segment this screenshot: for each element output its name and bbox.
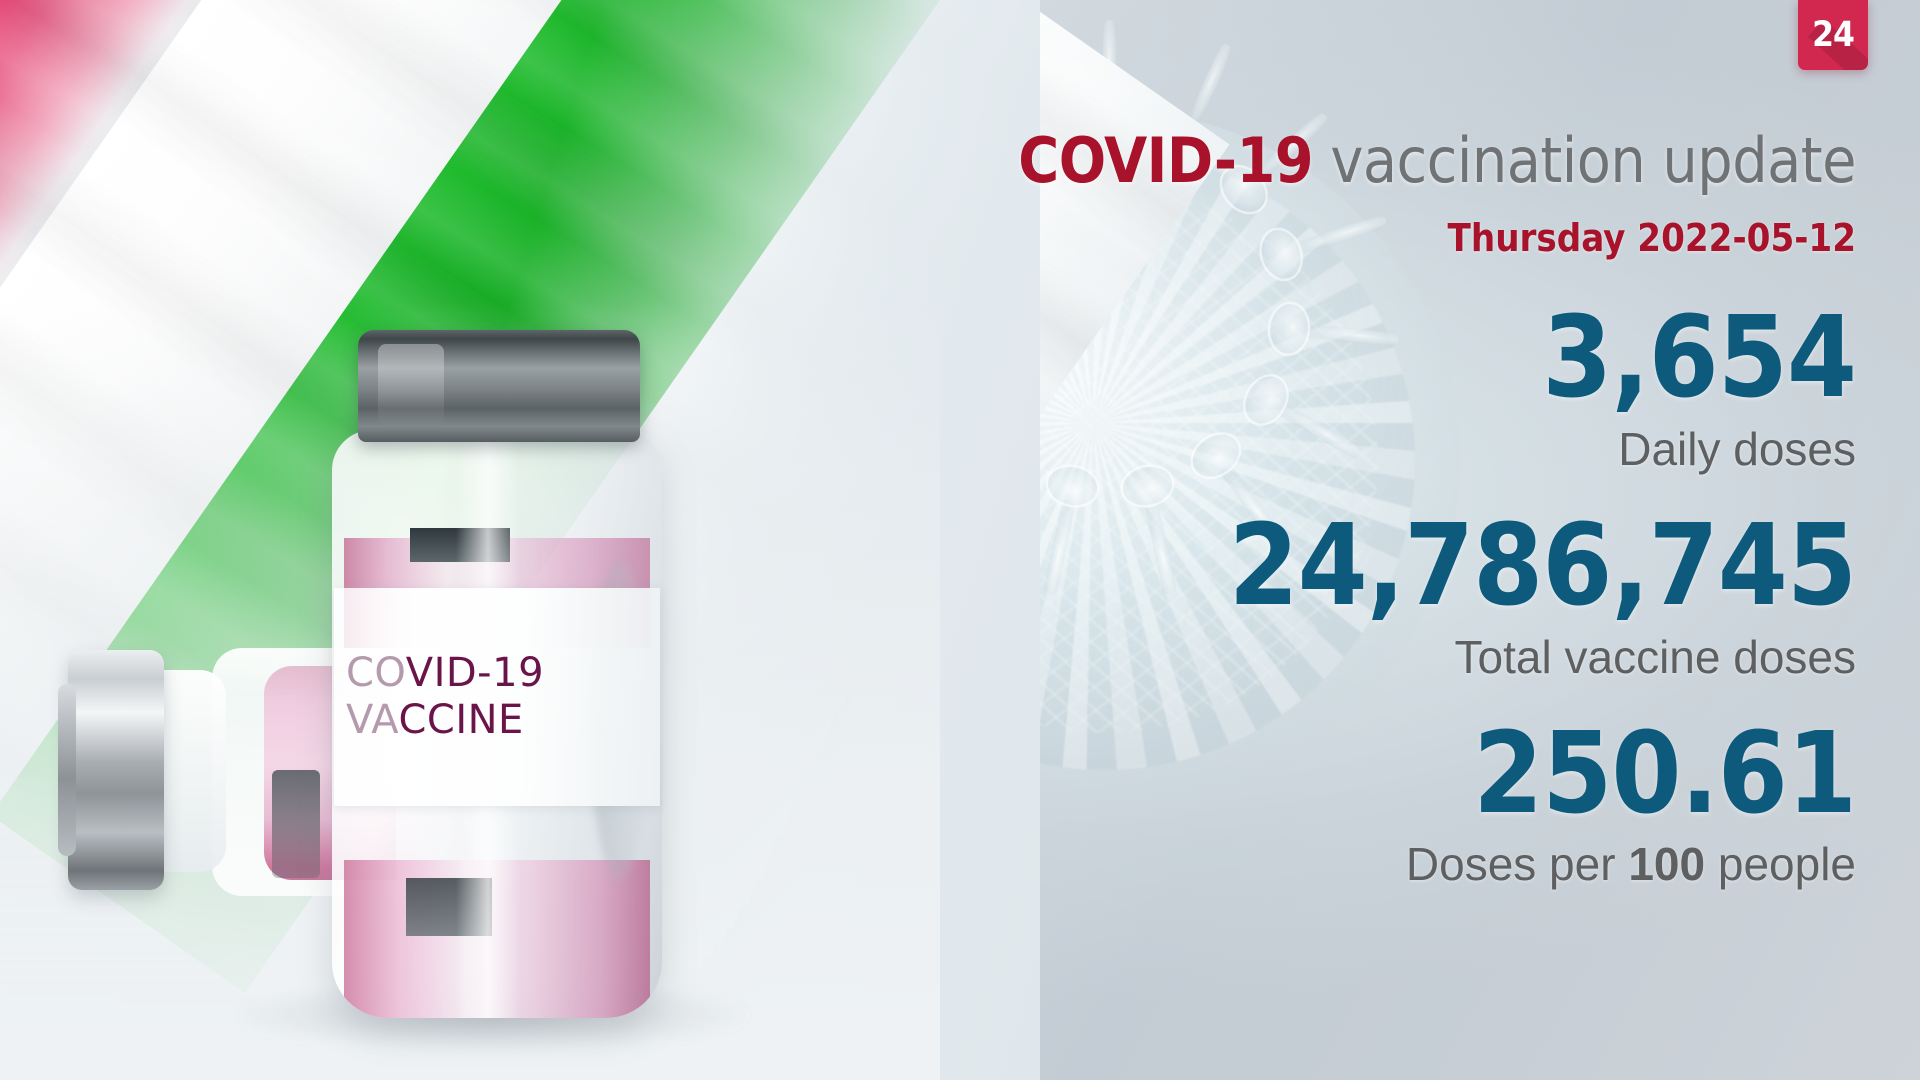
stat-daily-doses-caption: Daily doses bbox=[796, 422, 1856, 476]
vial-liquid-lower bbox=[344, 860, 650, 1018]
vial-label-line-1: COVID-19 bbox=[346, 650, 660, 697]
stat-doses-per-100-caption-pre: Doses per bbox=[1406, 838, 1628, 890]
flag-band-white bbox=[0, 0, 720, 820]
vial-label-line-2-strong: CCINE bbox=[398, 697, 523, 743]
vial-glass-edge-shade bbox=[590, 560, 650, 880]
stat-doses-per-100-caption-post: people bbox=[1705, 838, 1856, 890]
vial-label-line-2: VACCINE bbox=[346, 697, 660, 744]
vial-metal-cap bbox=[358, 330, 640, 442]
stat-total-doses-caption-text: Total vaccine doses bbox=[1455, 631, 1856, 683]
vial-liquid-upper bbox=[344, 538, 650, 648]
vial-glass-body bbox=[332, 430, 662, 1018]
infographic-canvas: COVID-19 VACCINE 24 COVID-19 vaccination… bbox=[0, 0, 1920, 1080]
vial-shadow-chip-top bbox=[410, 528, 510, 562]
stat-total-doses-caption: Total vaccine doses bbox=[796, 630, 1856, 684]
vial-label-line-1-strong: VID-19 bbox=[406, 650, 544, 696]
stat-total-doses-value: 24,786,745 bbox=[796, 512, 1856, 622]
vaccine-vial-lying bbox=[62, 626, 462, 916]
stat-daily-doses-value: 3,654 bbox=[796, 304, 1856, 414]
vial-lying-label bbox=[396, 666, 482, 896]
stat-doses-per-100-caption-bold: 100 bbox=[1628, 838, 1705, 890]
page-title-rest: vaccination update bbox=[1313, 124, 1856, 197]
page-title-highlight: COVID-19 bbox=[1018, 124, 1313, 197]
vial-lying-liquid bbox=[264, 666, 474, 880]
vial-lying-cap bbox=[68, 650, 164, 890]
stat-doses-per-100-value: 250.61 bbox=[796, 720, 1856, 830]
vial-ground-shadow bbox=[230, 980, 750, 1050]
vial-glass-highlight bbox=[456, 430, 520, 1018]
vial-lying-neck bbox=[156, 670, 226, 872]
vial-label-line-1-dim: CO bbox=[346, 650, 406, 696]
vial-lying-shadow-chip bbox=[272, 770, 320, 878]
stat-doses-per-100: 250.61 Doses per 100 people bbox=[796, 720, 1856, 892]
stats-panel: COVID-19 vaccination update Thursday 202… bbox=[796, 0, 1856, 1080]
flag-band-red bbox=[0, 0, 476, 649]
stat-daily-doses-caption-text: Daily doses bbox=[1618, 423, 1856, 475]
vaccine-vial-upright: COVID-19 VACCINE bbox=[300, 330, 690, 1030]
stat-total-doses: 24,786,745 Total vaccine doses bbox=[796, 512, 1856, 684]
page-title: COVID-19 vaccination update bbox=[796, 130, 1856, 192]
stat-daily-doses: 3,654 Daily doses bbox=[796, 304, 1856, 476]
vial-label: COVID-19 VACCINE bbox=[334, 588, 660, 806]
vial-lying-glass bbox=[212, 648, 482, 896]
stat-doses-per-100-caption: Doses per 100 people bbox=[796, 837, 1856, 891]
vial-label-line-2-dim: VA bbox=[346, 697, 398, 743]
report-date: Thursday 2022-05-12 bbox=[796, 216, 1856, 260]
vial-shadow-chip-bottom bbox=[406, 878, 492, 936]
